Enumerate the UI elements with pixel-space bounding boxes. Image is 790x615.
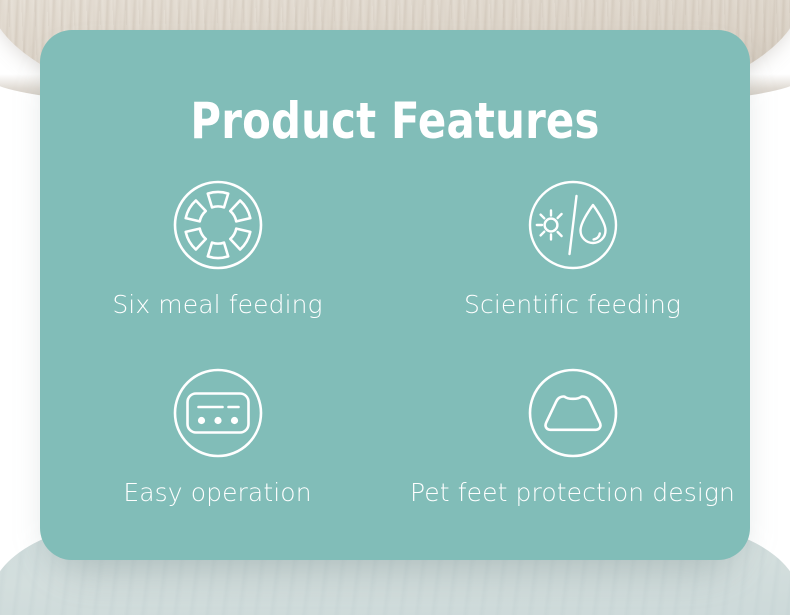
- sun-and-water-drop-icon: [523, 175, 623, 275]
- page-title: Product Features: [65, 96, 725, 146]
- feature-label: Easy operation: [123, 479, 311, 507]
- feature-label: Pet feet protection design: [410, 479, 735, 507]
- feature-label: Six meal feeding: [112, 291, 322, 319]
- feature-label: Scientific feeding: [464, 291, 681, 319]
- feature-card: Product Features: [40, 30, 750, 560]
- six-compartment-feeder-icon: [168, 175, 268, 275]
- feature-item-six-meal-feeding[interactable]: Six meal feeding: [40, 175, 395, 363]
- feature-grid: Six meal feeding: [40, 175, 750, 551]
- pet-paw-guard-icon: [523, 363, 623, 463]
- control-panel-icon: [168, 363, 268, 463]
- feature-item-pet-feet-protection[interactable]: Pet feet protection design: [395, 363, 750, 551]
- product-features-banner: Product Features: [0, 0, 790, 615]
- feature-item-easy-operation[interactable]: Easy operation: [40, 363, 395, 551]
- feature-item-scientific-feeding[interactable]: Scientific feeding: [395, 175, 750, 363]
